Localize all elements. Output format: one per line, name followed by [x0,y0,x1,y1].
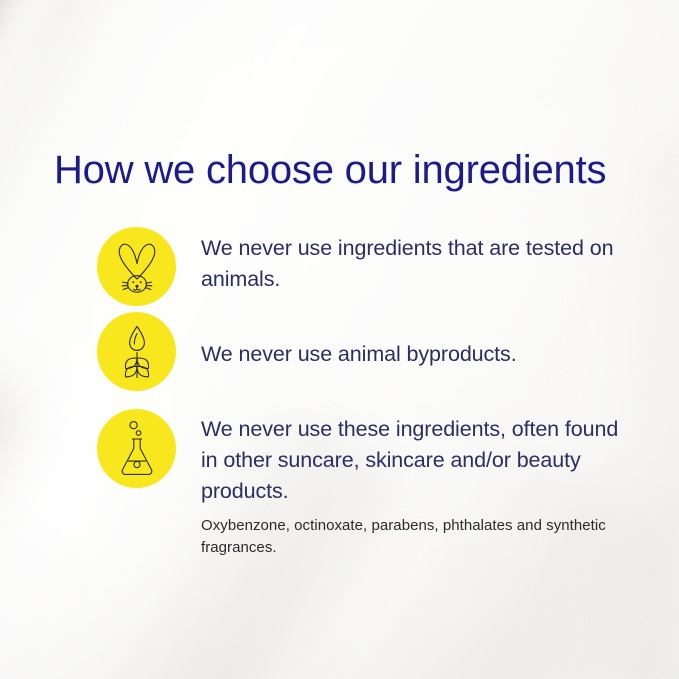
bunny-heart-ears-icon [113,239,161,295]
icon-badge-bunny [97,227,176,306]
list-item-body: We never use these ingredients, often fo… [201,408,637,507]
list-item: We never use animal byproducts. [97,318,637,391]
list-item-text-block: We never use these ingredients, often fo… [176,408,637,559]
principles-list: We never use ingredients that are tested… [97,225,637,559]
page-title: How we choose our ingredients [54,147,606,193]
list-item: We never use ingredients that are tested… [97,225,637,306]
list-item-subtext: Oxybenzone, octinoxate, parabens, phthal… [201,515,637,559]
icon-badge-plant [97,312,176,391]
list-item-text-block: We never use ingredients that are tested… [176,225,637,295]
list-item-body: We never use ingredients that are tested… [201,225,637,295]
list-item-text-block: We never use animal byproducts. [176,318,637,370]
icon-badge-flask [97,409,176,488]
list-item-body: We never use animal byproducts. [201,318,637,370]
erlenmeyer-flask-icon [117,420,157,478]
list-item: We never use these ingredients, often fo… [97,408,637,559]
ingredient-principles-graphic: How we choose our ingredients [0,0,679,679]
plant-leaf-sprig-icon [117,324,157,380]
content-layer: How we choose our ingredients [0,0,679,679]
